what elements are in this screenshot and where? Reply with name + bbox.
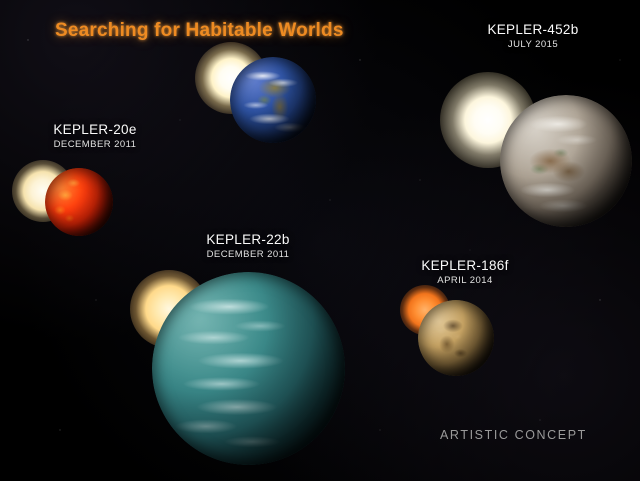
label-kepler-186f-date: APRIL 2014 [372, 276, 558, 287]
label-kepler-186f: KEPLER-186f APRIL 2014 [372, 258, 558, 286]
label-kepler-22b: KEPLER-22b DECEMBER 2011 [140, 232, 356, 260]
label-kepler-186f-name: KEPLER-186f [372, 258, 558, 274]
label-kepler-452b: KEPLER-452b JULY 2015 [440, 22, 626, 50]
kepler-20e-limb [45, 168, 113, 236]
label-kepler-20e: KEPLER-20e DECEMBER 2011 [0, 122, 190, 150]
planet-kepler-20e [45, 168, 113, 236]
planet-kepler-186f [418, 300, 494, 376]
planet-kepler-452b [500, 95, 632, 227]
artistic-concept-credit: ARTISTIC CONCEPT [440, 428, 587, 442]
earth-limb [230, 57, 316, 143]
label-kepler-22b-name: KEPLER-22b [140, 232, 356, 248]
habitable-worlds-poster: Searching for Habitable Worlds KEPLER-20… [0, 0, 640, 481]
label-kepler-20e-date: DECEMBER 2011 [0, 140, 190, 151]
planet-kepler-22b [152, 272, 345, 465]
label-kepler-22b-date: DECEMBER 2011 [140, 250, 356, 261]
planet-earth [230, 57, 316, 143]
kepler-186f-limb [418, 300, 494, 376]
label-kepler-452b-date: JULY 2015 [440, 40, 626, 51]
kepler-22b-limb [152, 272, 345, 465]
label-kepler-20e-name: KEPLER-20e [0, 122, 190, 138]
kepler-452b-limb [500, 95, 632, 227]
page-title: Searching for Habitable Worlds [55, 20, 344, 42]
label-kepler-452b-name: KEPLER-452b [440, 22, 626, 38]
